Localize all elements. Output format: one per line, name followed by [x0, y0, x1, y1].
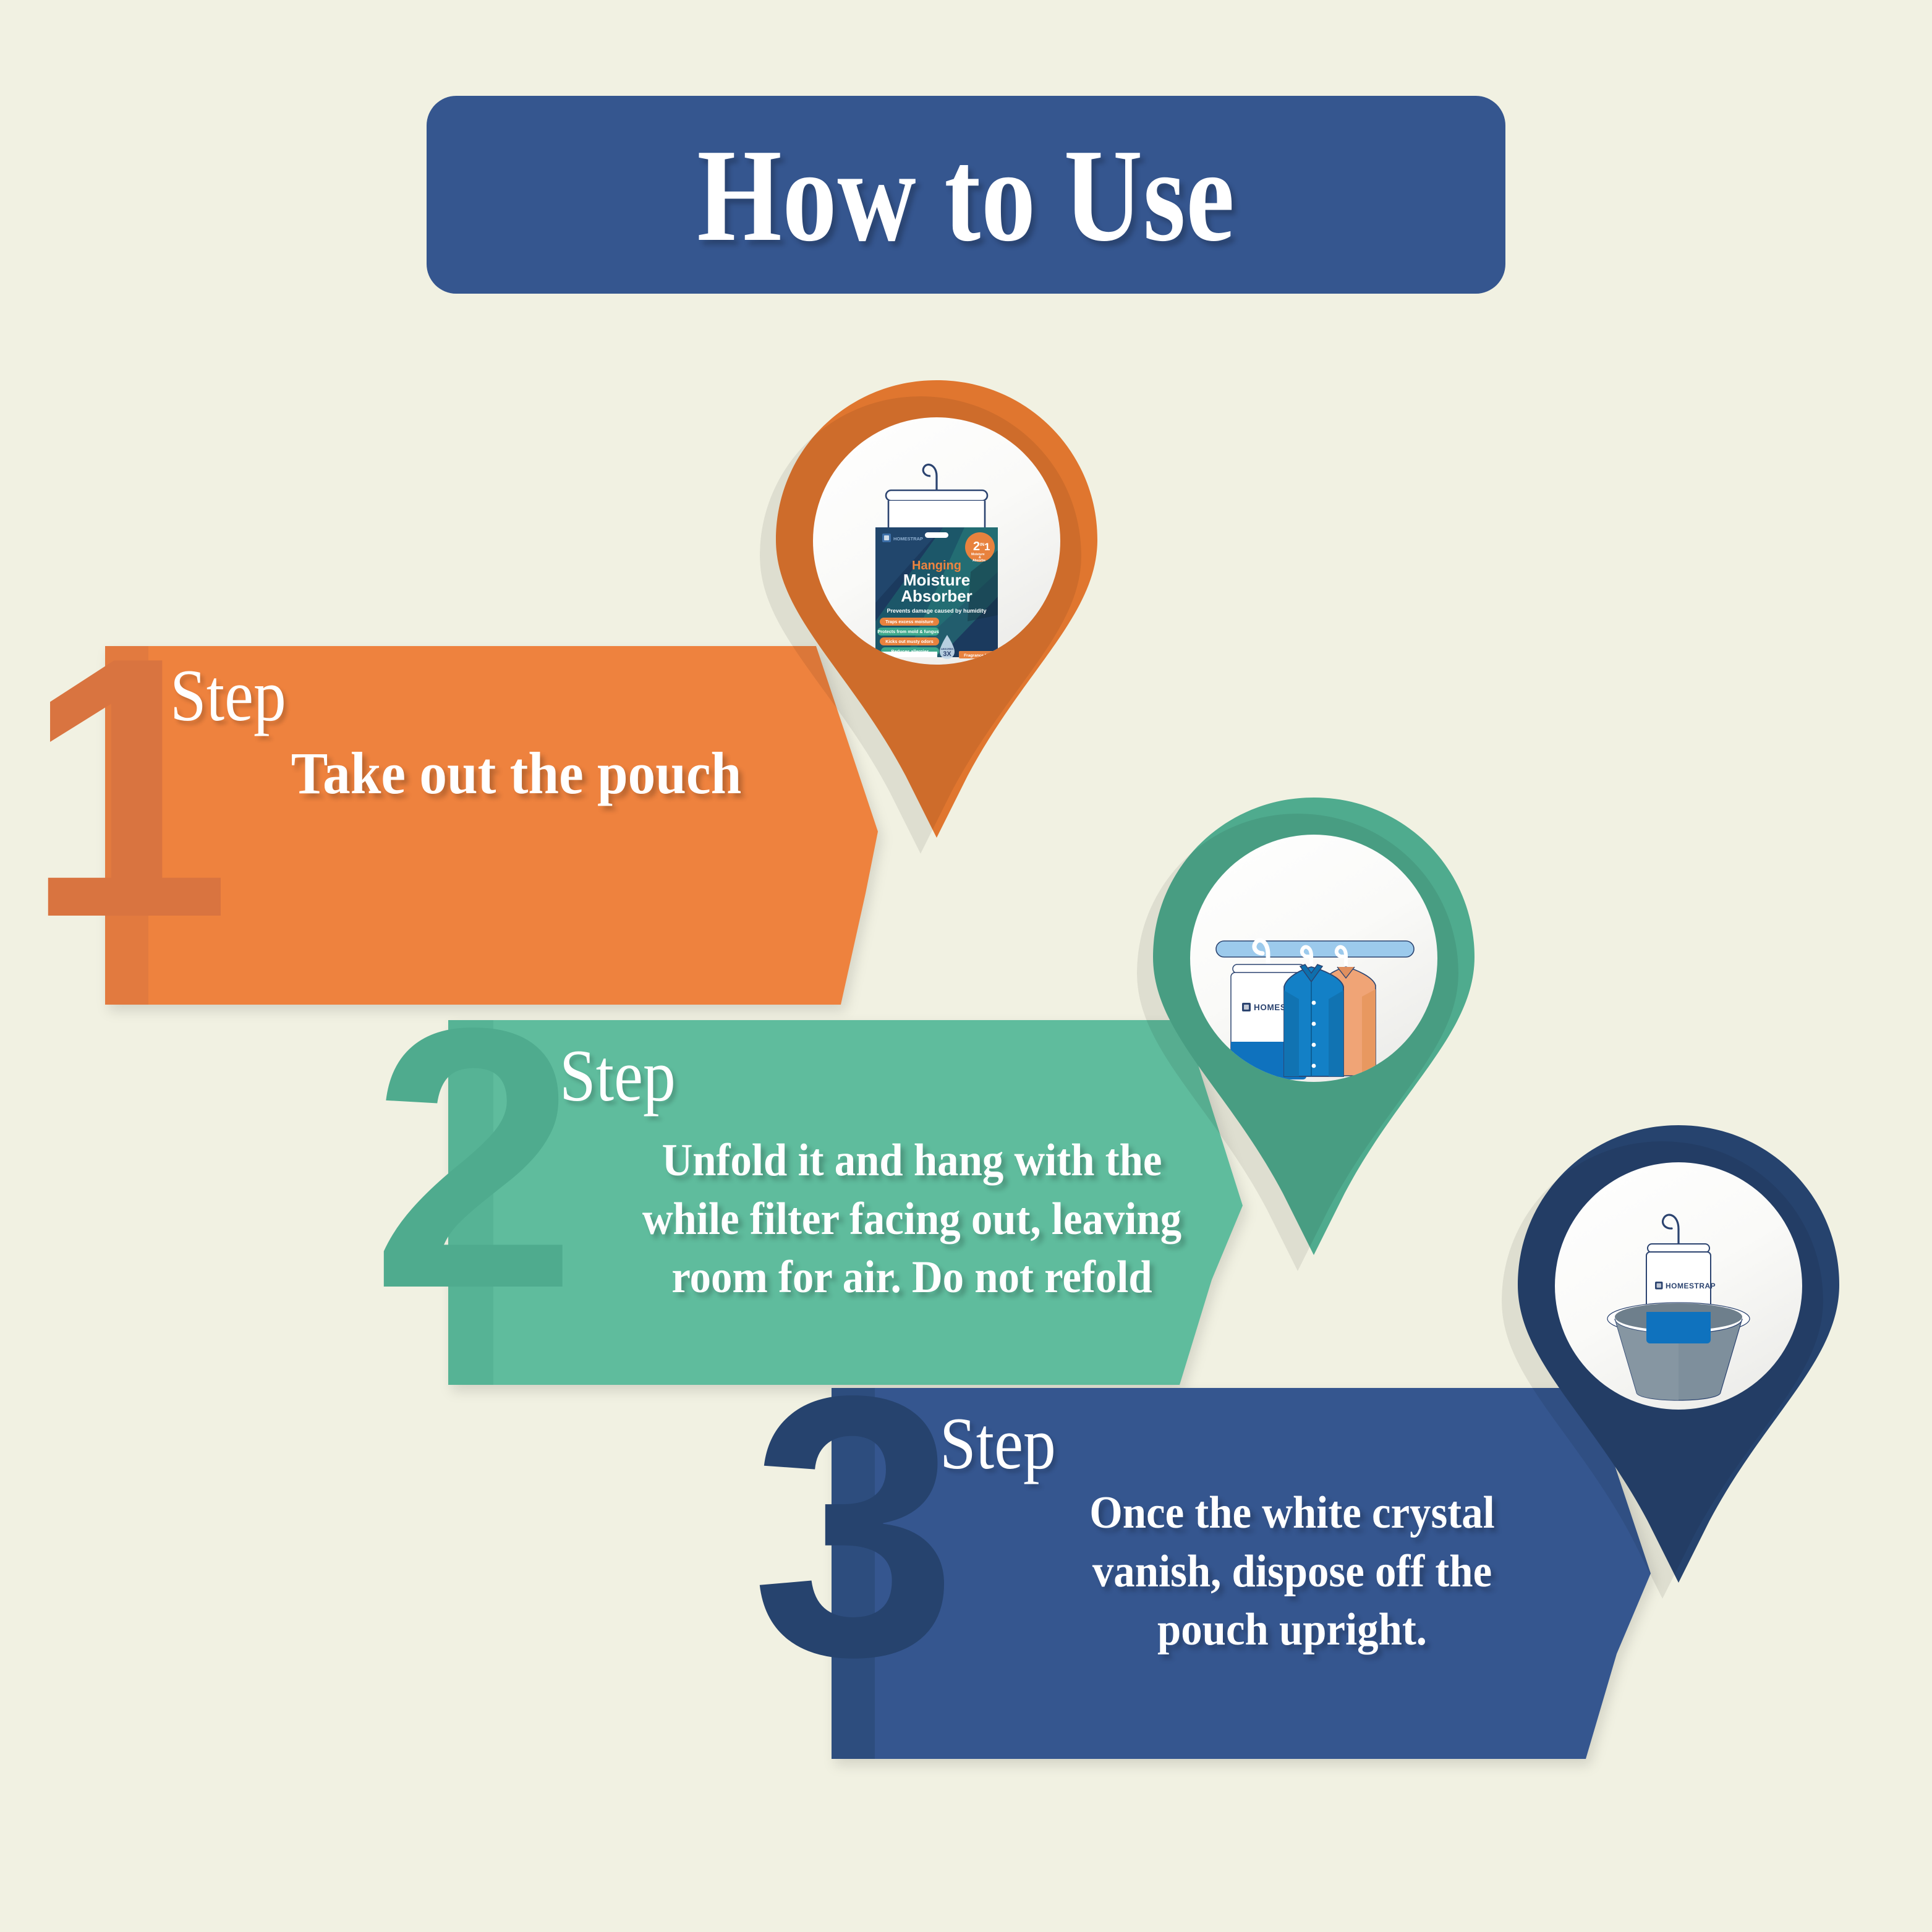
step-3-number: 3 [751, 1382, 958, 1671]
step-2-label: Step [560, 1039, 676, 1113]
svg-text:HOMESTRAP: HOMESTRAP [893, 536, 923, 542]
infographic-canvas: How to Use 1 Step Take out the pouch [0, 0, 1932, 1932]
svg-text:Kicks out musty odors: Kicks out musty odors [885, 639, 933, 644]
svg-text:Prevents damage caused by humi: Prevents damage caused by humidity [887, 608, 986, 614]
svg-text:Moisture: Moisture [971, 553, 985, 556]
step-1-description: Take out the pouch [283, 736, 749, 812]
step-1-label: Step [170, 658, 286, 733]
svg-text:2: 2 [973, 540, 980, 553]
step-1-image: HOMESTRAP 2 IN 1 Moisture & Absorbs Hang… [813, 417, 1060, 665]
page-title-banner: How to Use [427, 96, 1505, 294]
svg-text:HOMESTRAP: HOMESTRAP [1666, 1282, 1716, 1290]
svg-text:3X: 3X [943, 650, 951, 658]
step-3-description: Once the white crystal vanish, dispose o… [1062, 1484, 1522, 1659]
page-title: How to Use [697, 129, 1235, 262]
step-3-label: Step [940, 1406, 1056, 1481]
svg-text:Traps excess moisture: Traps excess moisture [885, 619, 934, 624]
svg-text:IN: IN [980, 543, 984, 547]
svg-text:Absorbs: Absorbs [972, 559, 985, 563]
step-2-image: HOMESTRAP [1190, 835, 1437, 1082]
svg-text:Absorber: Absorber [901, 587, 972, 605]
step-2-number: 2 [371, 1014, 577, 1303]
step-2-description: Unfold it and hang with the while filter… [624, 1131, 1199, 1307]
svg-text:1: 1 [984, 541, 990, 553]
svg-text:Protects from mold & fungus: Protects from mold & fungus [877, 629, 938, 634]
step-3-image: HOMESTRAP [1555, 1162, 1802, 1410]
